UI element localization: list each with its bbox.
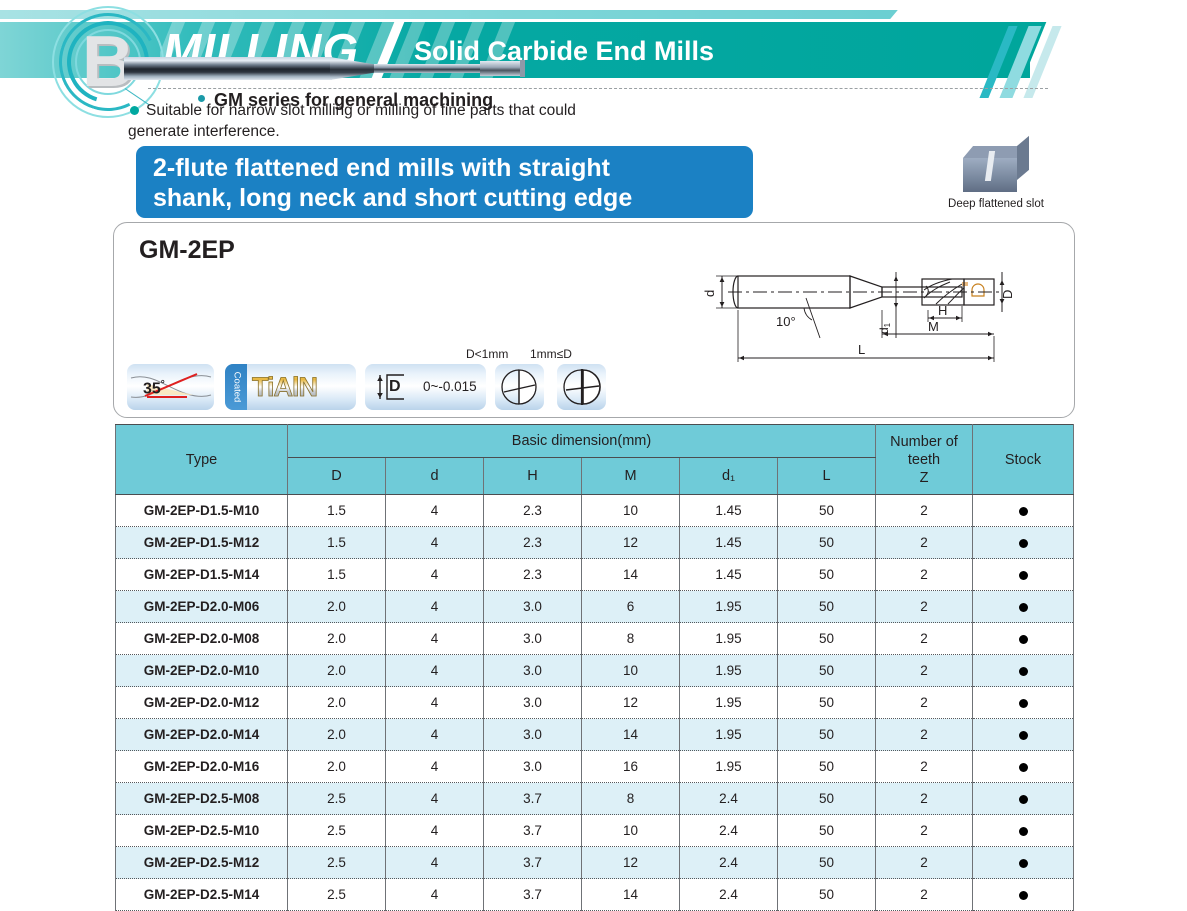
stock-available-icon [1019,859,1028,868]
cell-H: 3.0 [484,719,582,751]
cell-stock [973,847,1074,879]
stock-available-icon [1019,827,1028,836]
cell-d: 4 [386,559,484,591]
cell-stock [973,879,1074,911]
cell-M: 14 [582,719,680,751]
table-row: GM-2EP-D2.5-M142.543.7142.4502 [116,879,1074,911]
table-row: GM-2EP-D1.5-M101.542.3101.45502 [116,495,1074,527]
col-header-L: L [778,458,876,495]
col-header-type: Type [116,425,288,495]
cell-M: 10 [582,655,680,687]
cell-stock [973,655,1074,687]
table-row: GM-2EP-D2.5-M102.543.7102.4502 [116,815,1074,847]
cell-teeth: 2 [876,591,973,623]
cell-D: 1.5 [288,527,386,559]
product-code: GM-2EP [139,236,235,264]
cell-L: 50 [778,623,876,655]
cell-teeth: 2 [876,783,973,815]
flute-section-badge-large [557,364,606,410]
cell-M: 8 [582,783,680,815]
cell-d: 4 [386,591,484,623]
cell-type: GM-2EP-D2.0-M10 [116,655,288,687]
cell-H: 3.0 [484,623,582,655]
cell-stock [973,559,1074,591]
cell-M: 14 [582,879,680,911]
feature-description-line-2: generate interference. [128,121,598,142]
col-header-M: M [582,458,680,495]
cell-d1: 2.4 [680,815,778,847]
cell-D: 2.0 [288,751,386,783]
cell-stock [973,751,1074,783]
cell-teeth: 2 [876,879,973,911]
product-title-line-2: shank, long neck and short cutting edge [153,183,753,213]
stock-available-icon [1019,603,1028,612]
cell-type: GM-2EP-D1.5-M10 [116,495,288,527]
cell-d: 4 [386,751,484,783]
application-thumbnail-caption: Deep flattened slot [936,197,1056,211]
cell-teeth: 2 [876,815,973,847]
table-row: GM-2EP-D1.5-M141.542.3141.45502 [116,559,1074,591]
cell-M: 12 [582,527,680,559]
cell-type: GM-2EP-D2.0-M12 [116,687,288,719]
cell-M: 12 [582,687,680,719]
cell-type: GM-2EP-D2.0-M08 [116,623,288,655]
cell-type: GM-2EP-D2.0-M16 [116,751,288,783]
cell-H: 3.7 [484,815,582,847]
teeth-header-line-2: teeth [877,451,971,469]
cell-H: 3.0 [484,655,582,687]
stock-available-icon [1019,539,1028,548]
drawing-label-L: L [858,342,865,357]
helix-angle-value: 35° [143,376,165,398]
cell-M: 12 [582,847,680,879]
cell-D: 2.0 [288,687,386,719]
cell-type: GM-2EP-D2.0-M06 [116,591,288,623]
coated-label: Coated [231,372,241,403]
stock-available-icon [1019,635,1028,644]
cell-L: 50 [778,847,876,879]
coating-name: TiAlN [252,371,317,403]
cell-d1: 1.95 [680,687,778,719]
drawing-label-D-diameter: D [1000,290,1015,299]
cell-type: GM-2EP-D2.5-M12 [116,847,288,879]
cell-teeth: 2 [876,719,973,751]
cell-d: 4 [386,655,484,687]
table-header: Type Basic dimension(mm) Number of teeth… [116,425,1074,495]
col-header-H: H [484,458,582,495]
cell-H: 3.0 [484,591,582,623]
cell-d1: 1.95 [680,655,778,687]
cell-d1: 1.95 [680,751,778,783]
drawing-label-M: M [928,319,939,334]
cell-M: 10 [582,815,680,847]
cell-M: 8 [582,623,680,655]
cell-d1: 1.45 [680,559,778,591]
cell-H: 3.0 [484,687,582,719]
cell-H: 2.3 [484,527,582,559]
cell-L: 50 [778,495,876,527]
tool-tip [520,60,525,77]
cell-L: 50 [778,879,876,911]
coating-badge: Coated TiAlN [225,364,356,410]
stock-available-icon [1019,507,1028,516]
cell-D: 1.5 [288,495,386,527]
cell-type: GM-2EP-D1.5-M12 [116,527,288,559]
cell-H: 3.7 [484,879,582,911]
cell-L: 50 [778,591,876,623]
table-row: GM-2EP-D2.5-M082.543.782.4502 [116,783,1074,815]
two-flute-section-small-icon [495,364,544,410]
cell-M: 10 [582,495,680,527]
cell-d1: 1.95 [680,591,778,623]
drawing-label-H: H [938,303,947,318]
product-title-box: 2-flute flattened end mills with straigh… [136,146,753,218]
cell-L: 50 [778,751,876,783]
cell-stock [973,495,1074,527]
cell-D: 2.0 [288,655,386,687]
teeth-header-line-3: Z [877,469,971,487]
end-mill-photo [124,48,530,88]
flute-caption-large-diameter: 1mm≤D [530,347,572,361]
feature-description: Suitable for narrow slot milling or mill… [128,100,598,142]
tool-shank [124,57,332,80]
tool-taper [330,57,376,80]
table-row: GM-2EP-D2.0-M122.043.0121.95502 [116,687,1074,719]
cell-L: 50 [778,719,876,751]
cell-d: 4 [386,847,484,879]
table-body: GM-2EP-D1.5-M101.542.3101.45502GM-2EP-D1… [116,495,1074,911]
cell-D: 2.0 [288,591,386,623]
tolerance-dimension-symbol: D [389,377,401,397]
cell-stock [973,815,1074,847]
teeth-header-line-1: Number of [877,433,971,451]
product-title-line-1: 2-flute flattened end mills with straigh… [153,153,753,183]
cell-D: 1.5 [288,559,386,591]
cell-d: 4 [386,527,484,559]
table-row: GM-2EP-D2.0-M082.043.081.95502 [116,623,1074,655]
cell-M: 6 [582,591,680,623]
two-flute-section-large-icon [557,364,606,410]
table-row: GM-2EP-D2.0-M102.043.0101.95502 [116,655,1074,687]
cell-teeth: 2 [876,847,973,879]
drawing-label-d1: d1 [877,322,892,334]
cell-D: 2.5 [288,879,386,911]
cell-stock [973,687,1074,719]
cell-stock [973,591,1074,623]
cell-M: 14 [582,559,680,591]
table-row: GM-2EP-D2.5-M122.543.7122.4502 [116,847,1074,879]
cell-stock [973,719,1074,751]
col-header-stock: Stock [973,425,1074,495]
cell-type: GM-2EP-D1.5-M14 [116,559,288,591]
cell-d1: 1.45 [680,527,778,559]
cell-stock [973,623,1074,655]
tool-long-neck [374,64,484,73]
col-header-basic-dimension: Basic dimension(mm) [288,425,876,458]
cell-d: 4 [386,815,484,847]
flute-caption-small-diameter: D<1mm [466,347,508,361]
table-row: GM-2EP-D2.0-M142.043.0141.95502 [116,719,1074,751]
cell-D: 2.5 [288,847,386,879]
stock-available-icon [1019,891,1028,900]
stock-available-icon [1019,667,1028,676]
cell-type: GM-2EP-D2.0-M14 [116,719,288,751]
cell-teeth: 2 [876,623,973,655]
cell-stock [973,783,1074,815]
cell-L: 50 [778,559,876,591]
cell-teeth: 2 [876,527,973,559]
cell-teeth: 2 [876,687,973,719]
deep-slot-icon [963,146,1029,192]
cell-stock [973,527,1074,559]
col-header-D: D [288,458,386,495]
stock-available-icon [1019,731,1028,740]
cell-d1: 1.95 [680,719,778,751]
cell-H: 2.3 [484,495,582,527]
cell-d: 4 [386,879,484,911]
cell-H: 3.7 [484,783,582,815]
cell-d1: 2.4 [680,847,778,879]
cell-d: 4 [386,687,484,719]
helix-angle-icon [127,364,214,410]
flute-section-badge-small [495,364,544,410]
cell-d: 4 [386,719,484,751]
cell-M: 16 [582,751,680,783]
cell-L: 50 [778,687,876,719]
application-thumbnail: Deep flattened slot [936,146,1056,222]
feature-description-line-1: Suitable for narrow slot milling or mill… [128,100,598,121]
tool-cutting-edge [480,61,522,76]
cell-L: 50 [778,815,876,847]
cell-type: GM-2EP-D2.5-M14 [116,879,288,911]
technical-drawing: d D d1 H M L 10° [700,246,1072,374]
drawing-label-d-shank: d [702,290,717,297]
table-row: GM-2EP-D2.0-M062.043.061.95502 [116,591,1074,623]
helix-angle-badge: 35° [127,364,214,410]
drawing-label-angle: 10° [776,314,796,329]
tolerance-badge: D 0~-0.015 [365,364,486,410]
cell-H: 3.7 [484,847,582,879]
cell-d: 4 [386,623,484,655]
cell-L: 50 [778,527,876,559]
cell-teeth: 2 [876,495,973,527]
cell-teeth: 2 [876,655,973,687]
table-row: GM-2EP-D1.5-M121.542.3121.45502 [116,527,1074,559]
cell-d: 4 [386,783,484,815]
cell-D: 2.0 [288,719,386,751]
tolerance-value: 0~-0.015 [423,378,477,396]
cell-d1: 1.95 [680,623,778,655]
cell-D: 2.5 [288,783,386,815]
coated-label-strip: Coated [225,364,247,410]
cell-d1: 2.4 [680,879,778,911]
cell-d: 4 [386,495,484,527]
cell-D: 2.0 [288,623,386,655]
cell-teeth: 2 [876,751,973,783]
col-header-number-of-teeth: Number of teeth Z [876,425,973,495]
cell-D: 2.5 [288,815,386,847]
cell-L: 50 [778,655,876,687]
stock-available-icon [1019,571,1028,580]
table-row: GM-2EP-D2.0-M162.043.0161.95502 [116,751,1074,783]
cell-type: GM-2EP-D2.5-M08 [116,783,288,815]
cell-teeth: 2 [876,559,973,591]
cell-d1: 1.45 [680,495,778,527]
col-header-d: d [386,458,484,495]
cell-H: 3.0 [484,751,582,783]
col-header-d1: d₁ [680,458,778,495]
cell-H: 2.3 [484,559,582,591]
stock-available-icon [1019,763,1028,772]
stock-available-icon [1019,795,1028,804]
cell-d1: 2.4 [680,783,778,815]
stock-available-icon [1019,699,1028,708]
cell-L: 50 [778,783,876,815]
cell-type: GM-2EP-D2.5-M10 [116,815,288,847]
specification-table: Type Basic dimension(mm) Number of teeth… [115,424,1074,911]
